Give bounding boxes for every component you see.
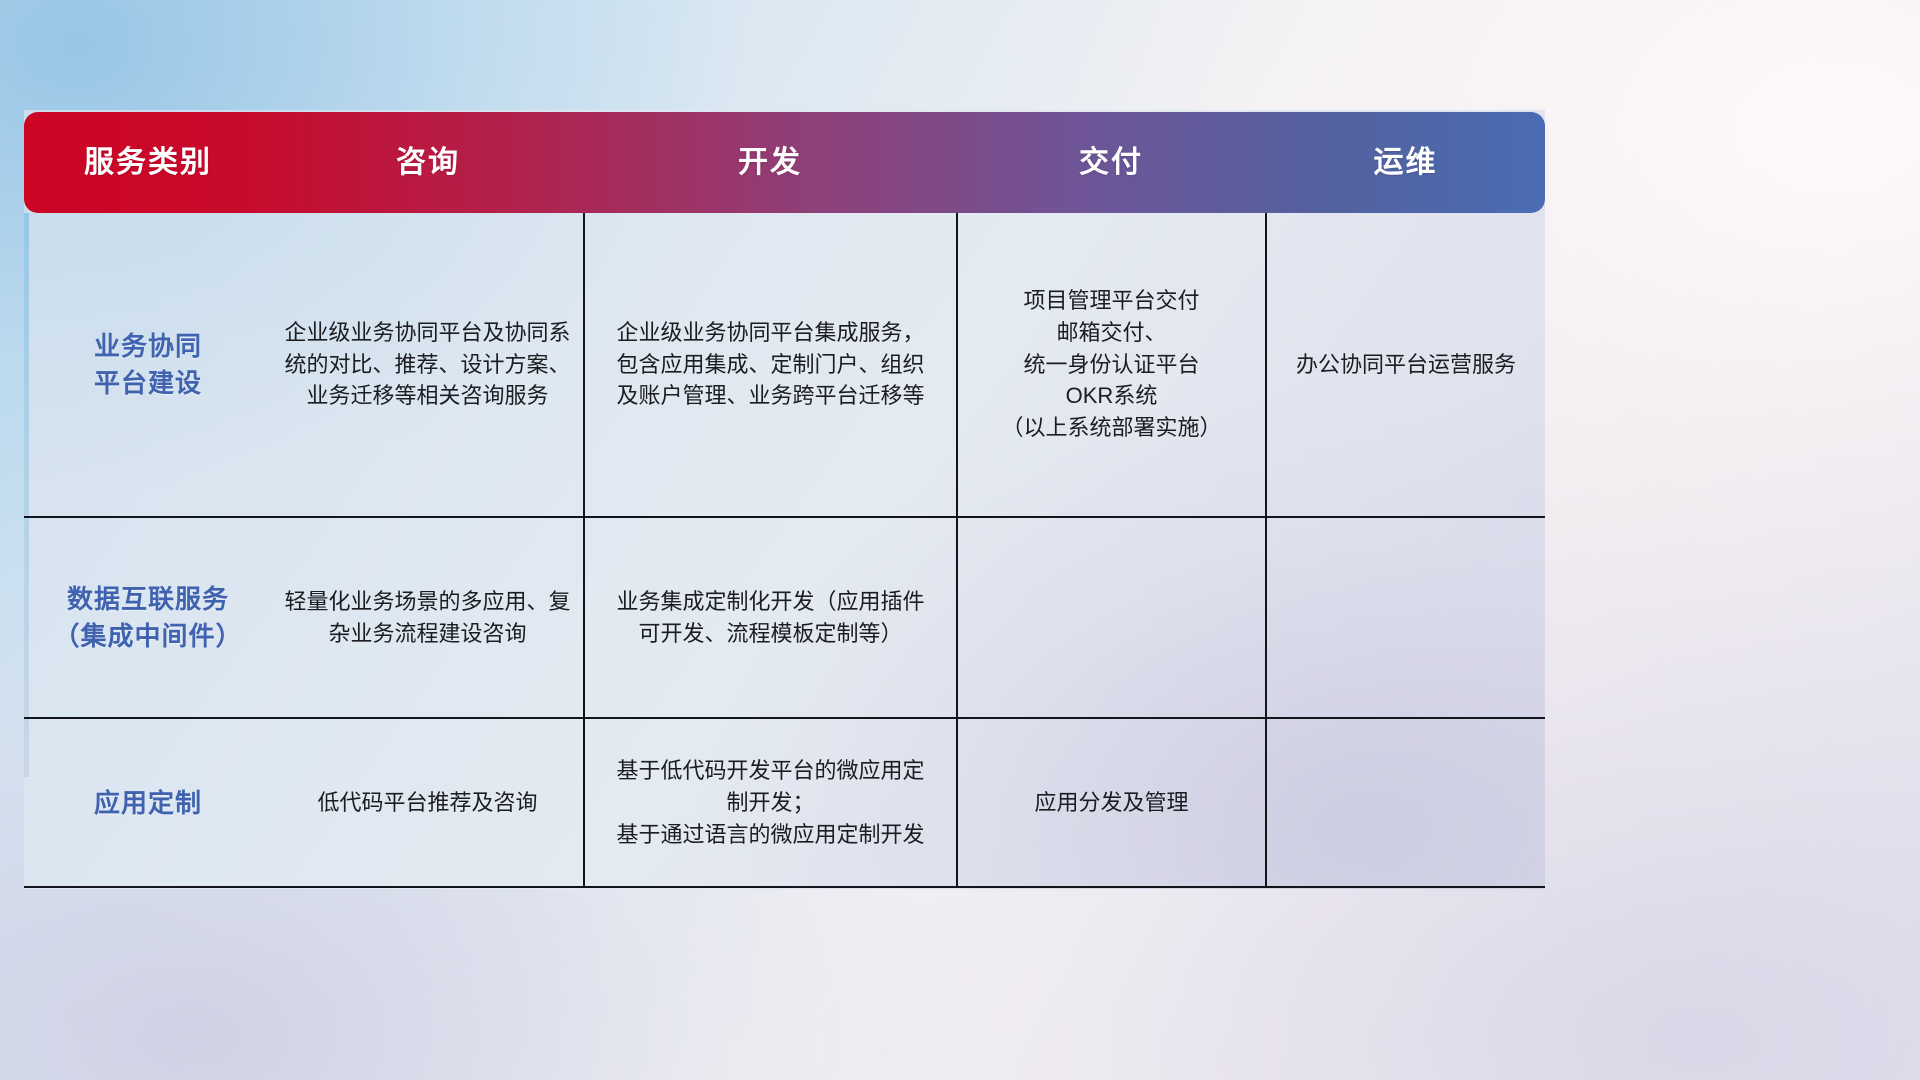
table-header-row: 服务类别 咨询 开发 交付 运维: [24, 112, 1545, 213]
row-3-consulting: 低代码平台推荐及咨询: [272, 719, 583, 887]
row-2-delivery: [958, 518, 1265, 717]
row-2-development: 业务集成定制化开发（应用插件 可开发、流程模板定制等）: [585, 518, 956, 717]
table-header-consulting: 咨询: [272, 148, 584, 178]
row-2-category: 数据互联服务 （集成中间件）: [24, 518, 272, 717]
table-header-operations: 运维: [1266, 148, 1545, 178]
row-2-consulting: 轻量化业务场景的多应用、复 杂业务流程建设咨询: [272, 518, 583, 717]
table-header-development: 开发: [584, 148, 956, 178]
slide-canvas: 服务类别 咨询 开发 交付 运维 业务协同 平台建设 企业级业务协同平台及协同系…: [0, 0, 1920, 1080]
row-1-delivery: 项目管理平台交付 邮箱交付、 统一身份认证平台 OKR系统 （以上系统部署实施）: [958, 213, 1265, 516]
row-3-delivery: 应用分发及管理: [958, 719, 1265, 887]
row-3-category: 应用定制: [24, 719, 272, 887]
row-1-category: 业务协同 平台建设: [24, 213, 272, 516]
row-3-operations: [1267, 719, 1545, 887]
row-1-operations: 办公协同平台运营服务: [1267, 213, 1545, 516]
table-header-delivery: 交付: [956, 148, 1266, 178]
service-matrix-table: 服务类别 咨询 开发 交付 运维 业务协同 平台建设 企业级业务协同平台及协同系…: [24, 110, 1545, 889]
row-1-consulting: 企业级业务协同平台及协同系 统的对比、推荐、设计方案、 业务迁移等相关咨询服务: [272, 213, 583, 516]
row-1-development: 企业级业务协同平台集成服务， 包含应用集成、定制门户、组织 及账户管理、业务跨平…: [585, 213, 956, 516]
row-2-operations: [1267, 518, 1545, 717]
row-3-development: 基于低代码开发平台的微应用定 制开发； 基于通过语言的微应用定制开发: [585, 719, 956, 887]
table-header-service-category: 服务类别: [24, 148, 272, 178]
